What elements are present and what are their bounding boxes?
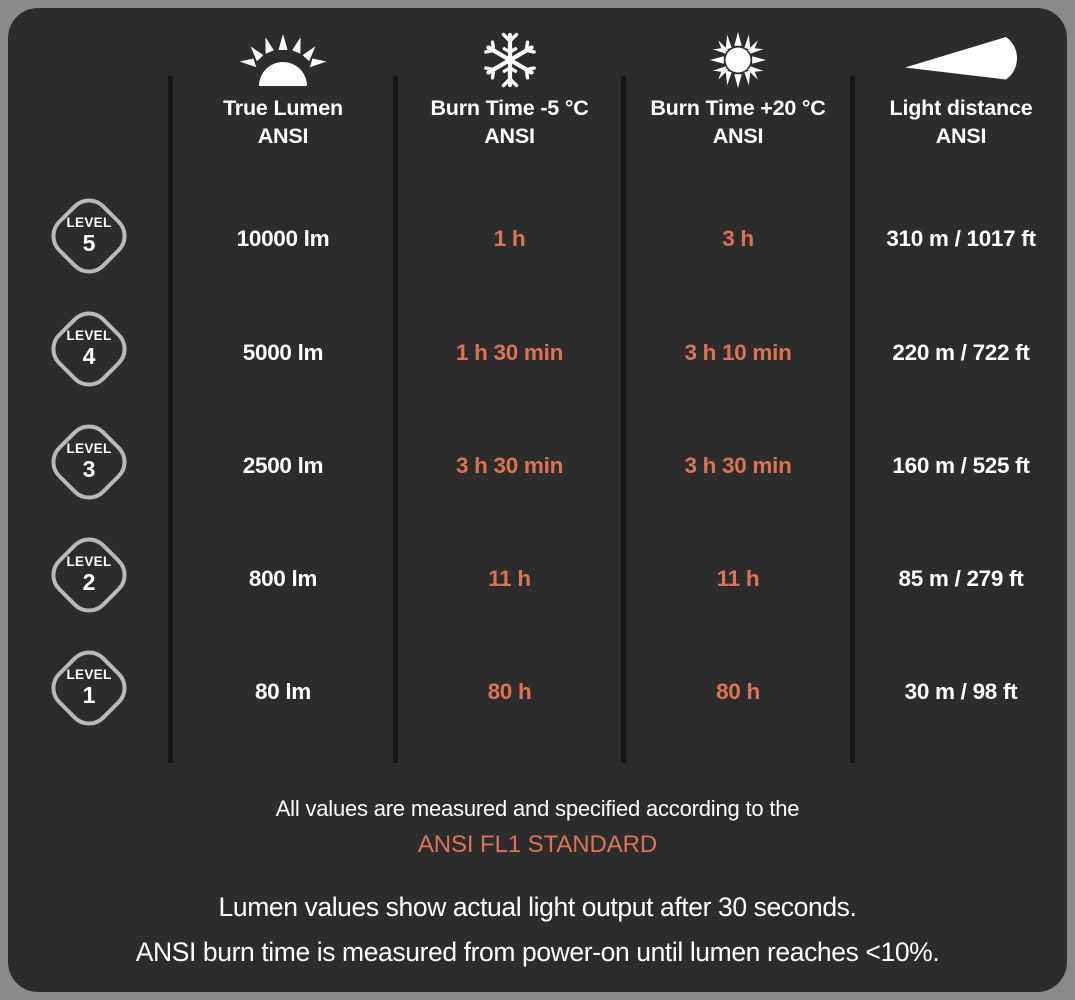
- column-title: Light distance: [890, 96, 1033, 120]
- footer-line-2: Lumen values show actual light output af…: [8, 885, 1067, 931]
- column-divider-4: [850, 76, 855, 763]
- badge-level-number: 4: [83, 343, 96, 369]
- column-divider-2: [393, 76, 398, 763]
- cell-burn-time-warm: 3 h 10 min: [626, 340, 850, 366]
- badge-level-word: LEVEL: [66, 668, 111, 682]
- cell-burn-time-cold: 3 h 30 min: [398, 453, 621, 479]
- column-subtitle: ANSI: [855, 122, 1067, 150]
- sun-icon: [626, 32, 850, 88]
- level-badge-1: LEVEL 1: [47, 646, 131, 730]
- footer-spacer: [8, 863, 1067, 885]
- column-header-label: Burn Time +20 °C ANSI: [626, 94, 850, 151]
- cell-true-lumen: 5000 lm: [173, 340, 393, 366]
- cell-true-lumen: 800 lm: [173, 566, 393, 592]
- footer-standard-label: ANSI FL1 STANDARD: [8, 827, 1067, 863]
- badge-level-number: 5: [83, 230, 96, 256]
- cell-true-lumen: 80 lm: [173, 679, 393, 705]
- cell-burn-time-warm: 3 h: [626, 226, 850, 252]
- sunburst-half-dome-icon: [173, 32, 393, 88]
- cell-true-lumen: 2500 lm: [173, 453, 393, 479]
- column-title: Burn Time +20 °C: [650, 96, 825, 120]
- cell-burn-time-cold: 1 h 30 min: [398, 340, 621, 366]
- badge-text: LEVEL 4: [47, 307, 131, 391]
- cell-light-distance: 30 m / 98 ft: [855, 679, 1067, 705]
- badge-level-number: 3: [83, 456, 96, 482]
- spec-table-card: True Lumen ANSI: [8, 8, 1067, 992]
- column-header-label: True Lumen ANSI: [173, 94, 393, 151]
- cell-light-distance: 310 m / 1017 ft: [855, 226, 1067, 252]
- column-header-label: Light distance ANSI: [855, 94, 1067, 151]
- column-subtitle: ANSI: [173, 122, 393, 150]
- table-header-row: True Lumen ANSI: [8, 32, 1067, 172]
- column-subtitle: ANSI: [626, 122, 850, 150]
- cell-burn-time-cold: 80 h: [398, 679, 621, 705]
- badge-text: LEVEL 3: [47, 420, 131, 504]
- column-header-true-lumen: True Lumen ANSI: [173, 32, 393, 151]
- footer-notes: All values are measured and specified ac…: [8, 791, 1067, 976]
- badge-text: LEVEL 2: [47, 533, 131, 617]
- column-header-light-distance: Light distance ANSI: [855, 32, 1067, 151]
- badge-level-word: LEVEL: [66, 216, 111, 230]
- column-title: Burn Time -5 °C: [430, 96, 588, 120]
- level-badge-3: LEVEL 3: [47, 420, 131, 504]
- cell-light-distance: 220 m / 722 ft: [855, 340, 1067, 366]
- column-divider-3: [621, 76, 626, 763]
- column-header-burn-time-cold: Burn Time -5 °C ANSI: [398, 32, 621, 151]
- badge-level-word: LEVEL: [66, 329, 111, 343]
- badge-level-number: 2: [83, 569, 96, 595]
- column-subtitle: ANSI: [398, 122, 621, 150]
- footer-line-3: ANSI burn time is measured from power-on…: [8, 930, 1067, 976]
- cell-burn-time-cold: 11 h: [398, 566, 621, 592]
- cell-burn-time-warm: 11 h: [626, 566, 850, 592]
- cell-burn-time-cold: 1 h: [398, 226, 621, 252]
- cell-light-distance: 85 m / 279 ft: [855, 566, 1067, 592]
- column-divider-1: [168, 76, 173, 763]
- level-badge-4: LEVEL 4: [47, 307, 131, 391]
- light-beam-cone-icon: [855, 32, 1067, 88]
- footer-line-1: All values are measured and specified ac…: [8, 791, 1067, 827]
- column-header-burn-time-warm: Burn Time +20 °C ANSI: [626, 32, 850, 151]
- snowflake-icon: [398, 32, 621, 88]
- column-title: True Lumen: [223, 96, 343, 120]
- cell-burn-time-warm: 80 h: [626, 679, 850, 705]
- badge-text: LEVEL 5: [47, 194, 131, 278]
- badge-level-number: 1: [83, 682, 96, 708]
- column-header-label: Burn Time -5 °C ANSI: [398, 94, 621, 151]
- cell-burn-time-warm: 3 h 30 min: [626, 453, 850, 479]
- badge-level-word: LEVEL: [66, 555, 111, 569]
- badge-level-word: LEVEL: [66, 442, 111, 456]
- level-badge-2: LEVEL 2: [47, 533, 131, 617]
- level-badge-5: LEVEL 5: [47, 194, 131, 278]
- badge-text: LEVEL 1: [47, 646, 131, 730]
- cell-light-distance: 160 m / 525 ft: [855, 453, 1067, 479]
- cell-true-lumen: 10000 lm: [173, 226, 393, 252]
